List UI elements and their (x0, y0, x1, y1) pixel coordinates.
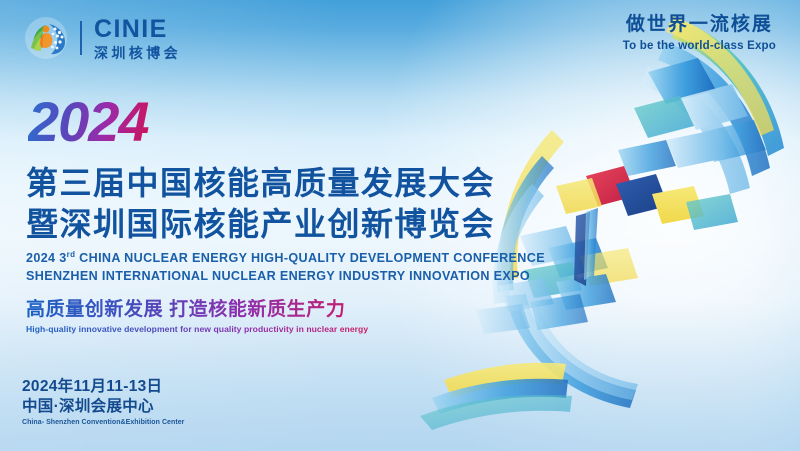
slogan-english: High-quality innovative development for … (26, 324, 368, 334)
event-date: 2024年11月11-13日 (22, 377, 184, 397)
motto: 做世界一流核展 To be the world-class Expo (623, 14, 776, 52)
headline-line-1: 第三届中国核能高质量发展大会 (26, 163, 495, 204)
logo-divider (80, 21, 82, 55)
subtitle-line-2: SHENZHEN INTERNATIONAL NUCLEAR ENERGY IN… (26, 268, 545, 286)
subtitle-english: 2024 3rd CHINA NUCLEAR ENERGY HIGH-QUALI… (26, 250, 545, 286)
subtitle-line-1-pre: 2024 3 (26, 251, 67, 265)
year-number: 2024 (28, 94, 149, 150)
page-title: 第三届中国核能高质量发展大会 暨深圳国际核能产业创新博览会 (26, 163, 495, 245)
event-poster: CINIE 深圳核博会 做世界一流核展 To be the world-clas… (0, 0, 800, 451)
motto-chinese: 做世界一流核展 (623, 14, 776, 37)
logo-wordmark: CINIE 深圳核博会 (94, 17, 181, 60)
cinie-emblem-icon (24, 16, 68, 60)
logo-latin-text: CINIE (94, 17, 181, 42)
slogan: 高质量创新发展 打造核能新质生产力 High-quality innovativ… (26, 299, 368, 334)
event-place-chinese: 中国·深圳会展中心 (22, 397, 184, 417)
logo-chinese-text: 深圳核博会 (94, 46, 181, 60)
headline-line-2: 暨深圳国际核能产业创新博览会 (26, 204, 495, 245)
venue-info: 2024年11月11-13日 中国·深圳会展中心 China- Shenzhen… (22, 377, 184, 426)
slogan-chinese: 高质量创新发展 打造核能新质生产力 (26, 299, 368, 321)
event-place-english: China- Shenzhen Convention&Exhibition Ce… (22, 419, 184, 426)
logo[interactable]: CINIE 深圳核博会 (24, 16, 181, 60)
subtitle-line-1-post: CHINA NUCLEAR ENERGY HIGH-QUALITY DEVELO… (75, 251, 545, 265)
subtitle-line-1: 2024 3rd CHINA NUCLEAR ENERGY HIGH-QUALI… (26, 250, 545, 268)
motto-english: To be the world-class Expo (623, 40, 776, 52)
